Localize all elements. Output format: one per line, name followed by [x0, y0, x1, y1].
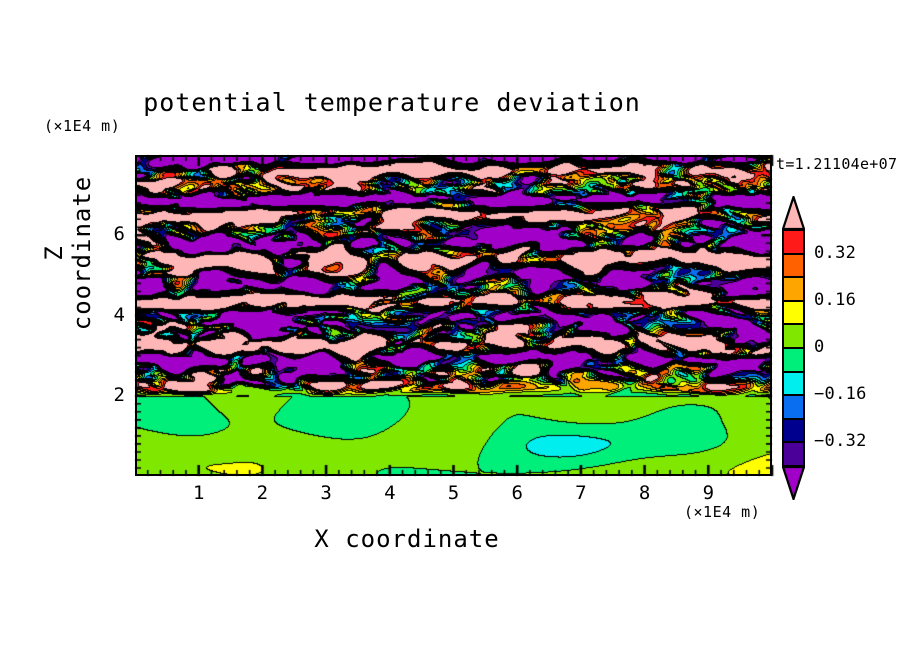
- x-tick-label: 7: [561, 482, 601, 504]
- colorbar-segment[interactable]: [782, 324, 805, 348]
- colorbar-segment[interactable]: [782, 442, 805, 466]
- colorbar[interactable]: 0.320.160−0.16−0.32: [778, 196, 898, 526]
- time-annotation: t=1.21104e+07: [776, 155, 897, 173]
- page-title: potential temperature deviation: [0, 88, 904, 117]
- colorbar-segment[interactable]: [782, 419, 805, 443]
- x-tick-label: 3: [306, 482, 346, 504]
- colorbar-tick-label: 0.32: [814, 243, 856, 263]
- x-axis-unit-label: (×1E4 m): [684, 503, 760, 521]
- y-axis-unit-label: (×1E4 m): [44, 117, 120, 135]
- x-tick-label: 5: [434, 482, 474, 504]
- x-tick-label: 9: [688, 482, 728, 504]
- colorbar-overflow-cap-low: [782, 466, 805, 500]
- contour-plot-area: [135, 155, 772, 476]
- y-axis-title: Z coordinate: [40, 163, 96, 343]
- colorbar-segment[interactable]: [782, 395, 805, 419]
- colorbar-segment[interactable]: [782, 348, 805, 372]
- y-tick-label: 2: [95, 384, 125, 406]
- figure-canvas: potential temperature deviation (×1E4 m)…: [0, 0, 904, 654]
- colorbar-tick-label: −0.32: [814, 431, 867, 451]
- x-axis-title: X coordinate: [0, 525, 904, 553]
- temperature-deviation-field: [135, 155, 772, 476]
- x-tick-label: 1: [179, 482, 219, 504]
- colorbar-tick-label: 0: [814, 337, 825, 357]
- colorbar-segment[interactable]: [782, 301, 805, 325]
- colorbar-segment[interactable]: [782, 372, 805, 396]
- colorbar-segment[interactable]: [782, 277, 805, 301]
- colorbar-segment[interactable]: [782, 254, 805, 278]
- colorbar-tick-label: −0.16: [814, 384, 867, 404]
- y-tick-label: 4: [95, 304, 125, 326]
- x-tick-label: 6: [497, 482, 537, 504]
- x-tick-label: 4: [370, 482, 410, 504]
- y-tick-label: 6: [95, 223, 125, 245]
- x-tick-label: 8: [625, 482, 665, 504]
- colorbar-tick-label: 0.16: [814, 290, 856, 310]
- x-tick-label: 2: [242, 482, 282, 504]
- colorbar-overflow-cap-high: [782, 196, 805, 230]
- colorbar-segment[interactable]: [782, 230, 805, 254]
